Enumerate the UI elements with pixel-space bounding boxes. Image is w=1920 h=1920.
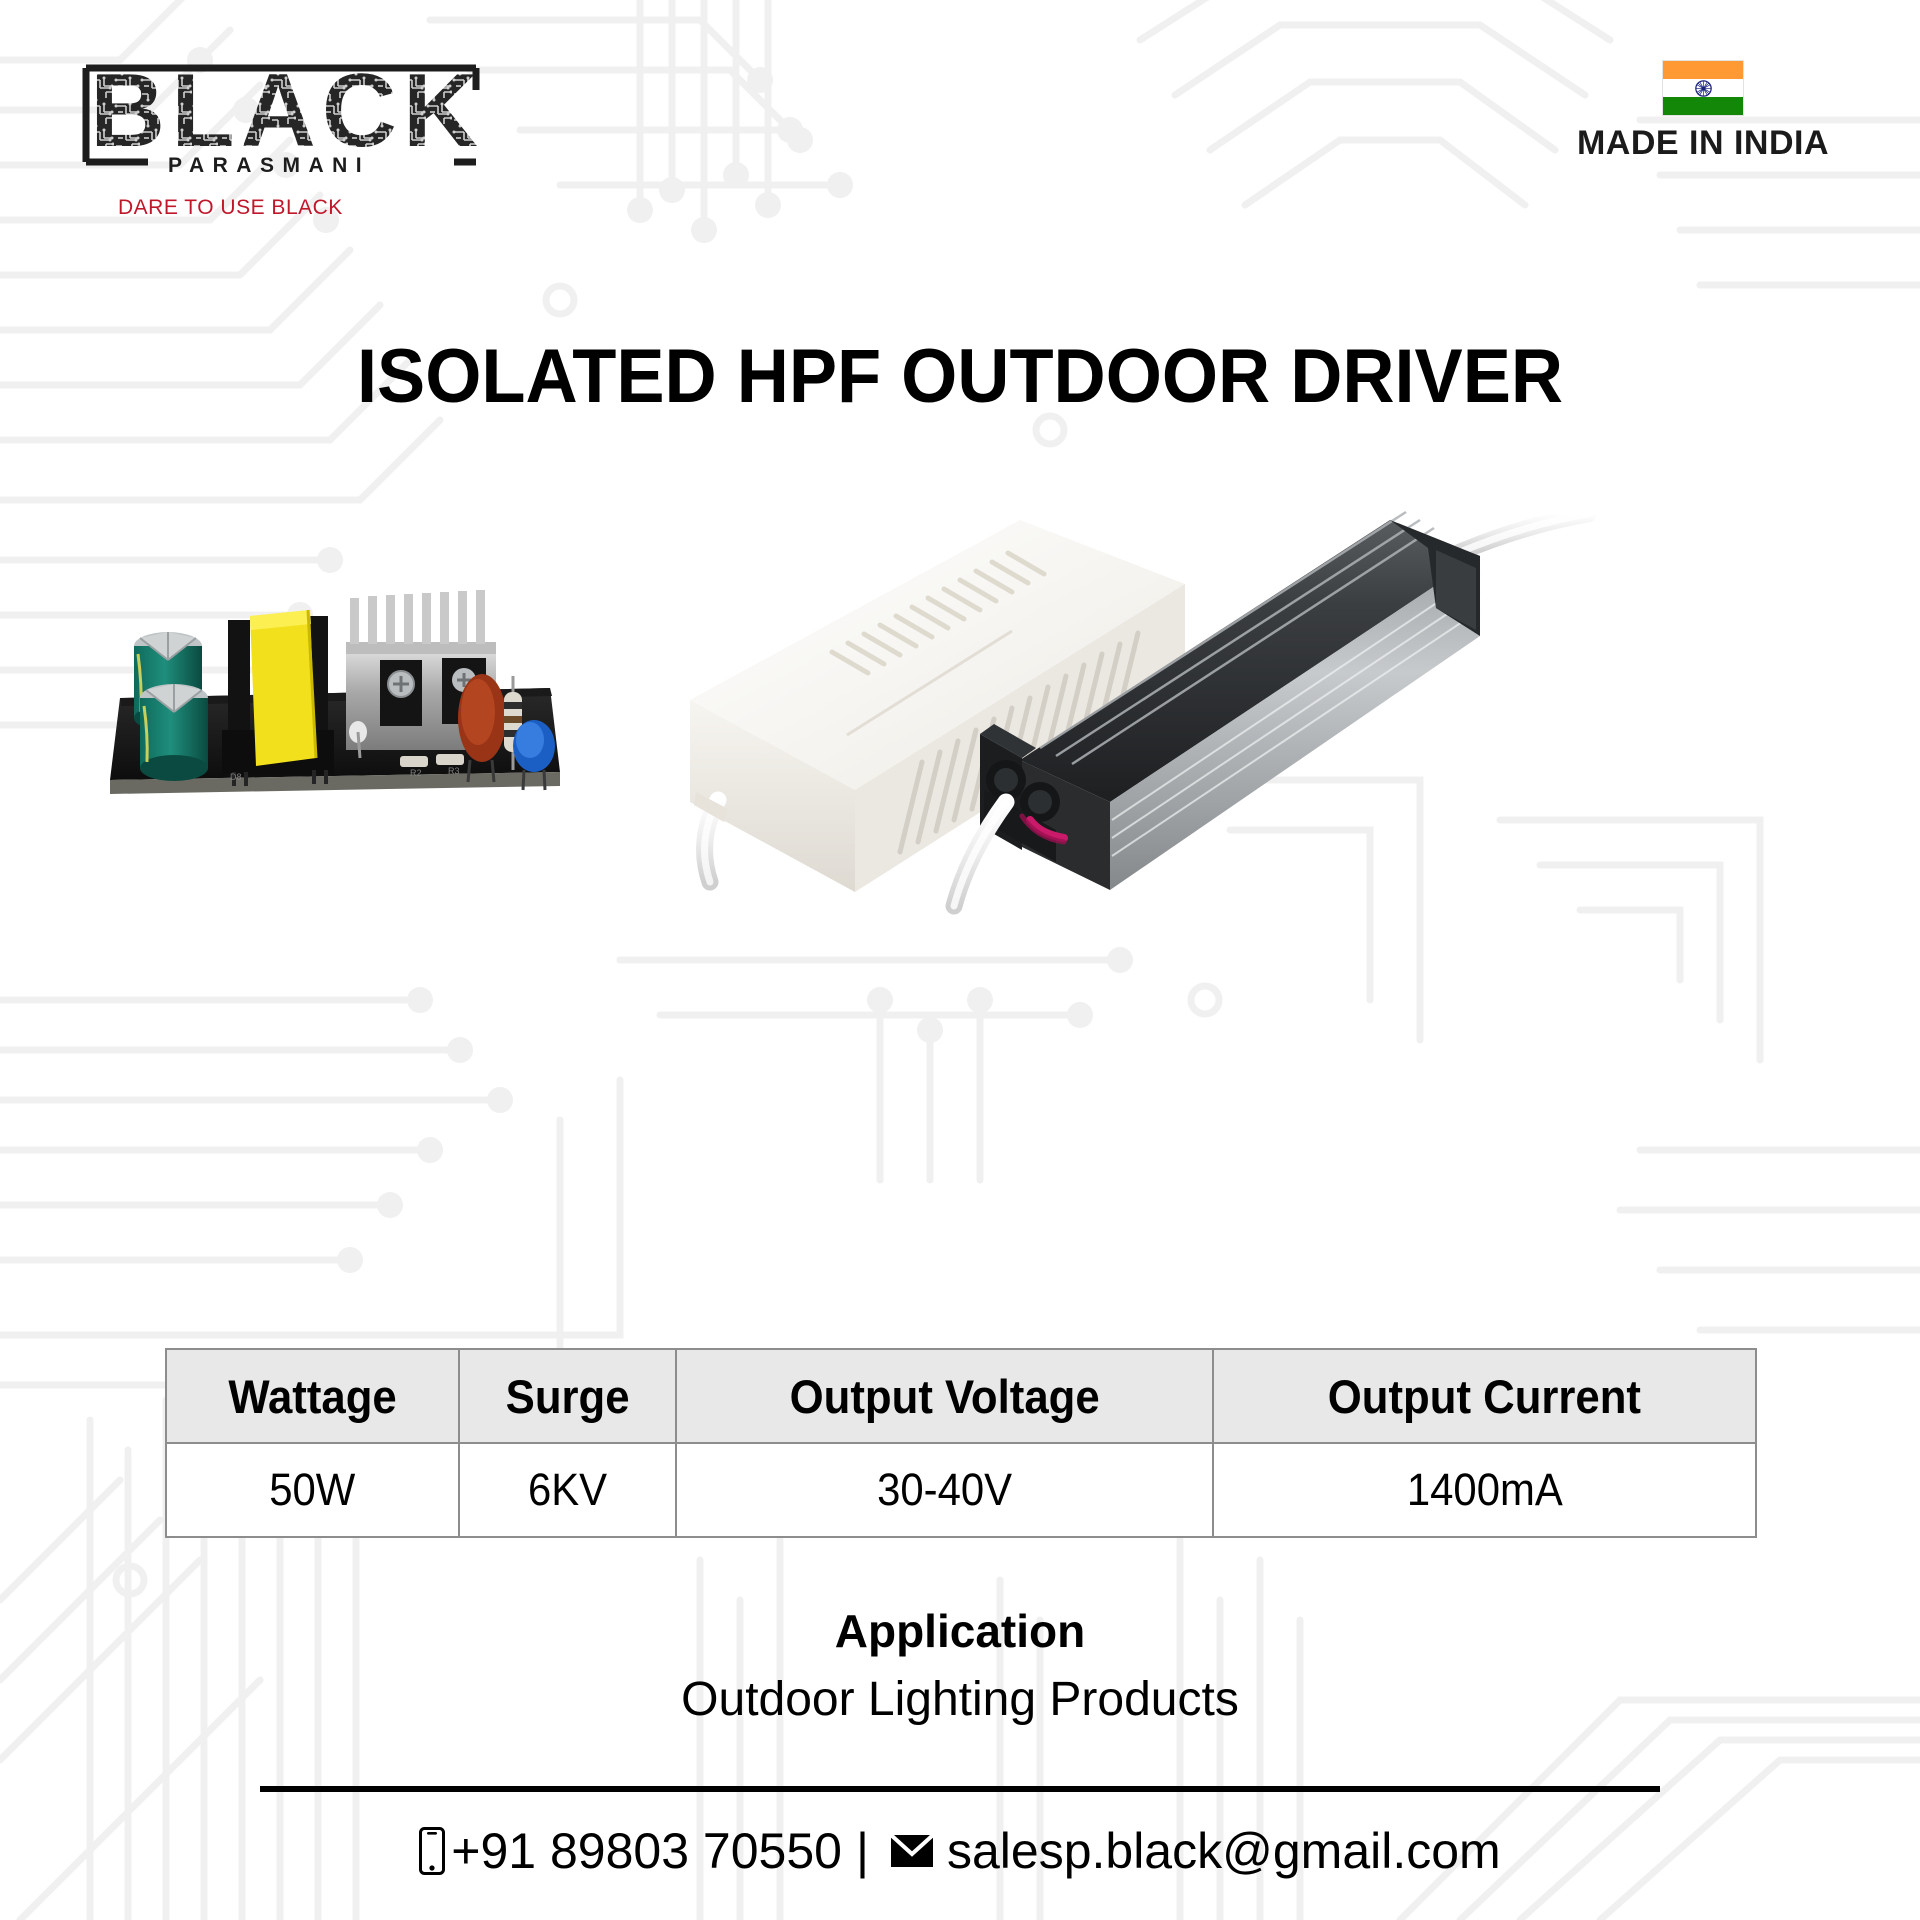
specifications-table: Wattage Surge Output Voltage Output Curr… (165, 1348, 1757, 1538)
column-header-output-voltage: Output Voltage (676, 1349, 1213, 1443)
page-title: ISOLATED HPF OUTDOOR DRIVER (48, 333, 1872, 420)
footer-contact-bar: +91 89803 70550 | salesp.black@gmail.com (0, 1822, 1920, 1880)
logo-mark: BLACK PARASMANI (62, 50, 480, 182)
cell-wattage: 50W (166, 1443, 459, 1537)
made-in-india-badge: MADE IN INDIA (1558, 60, 1848, 163)
footer-separator: | (842, 1822, 883, 1880)
application-value: Outdoor Lighting Products (0, 1672, 1920, 1727)
product-images: D8 R2 R3 (0, 480, 1920, 1000)
svg-text:D8: D8 (230, 772, 242, 782)
brand-tagline: DARE TO USE BLACK (118, 196, 343, 220)
column-header-surge: Surge (459, 1349, 676, 1443)
column-header-output-current: Output Current (1213, 1349, 1756, 1443)
footer-divider (260, 1786, 1660, 1792)
cell-output-current: 1400mA (1213, 1443, 1756, 1537)
table-header-row: Wattage Surge Output Voltage Output Curr… (166, 1349, 1756, 1443)
product-open-frame-pcb: D8 R2 R3 (110, 590, 560, 794)
svg-text:R3: R3 (448, 766, 460, 776)
made-in-india-label: MADE IN INDIA (1558, 124, 1848, 163)
cell-surge: 6KV (459, 1443, 676, 1537)
svg-text:PARASMANI: PARASMANI (168, 154, 370, 177)
india-flag-icon (1662, 60, 1744, 116)
envelope-icon (889, 1832, 935, 1870)
table-row: 50W 6KV 30-40V 1400mA (166, 1443, 1756, 1537)
mobile-phone-icon (419, 1827, 445, 1875)
footer-email-address[interactable]: salesp.black@gmail.com (947, 1822, 1501, 1880)
ashoka-chakra-icon (1695, 80, 1712, 97)
svg-text:R2: R2 (410, 768, 422, 778)
footer-phone-number[interactable]: +91 89803 70550 (451, 1822, 842, 1880)
application-heading: Application (0, 1604, 1920, 1658)
brand-logo: BLACK PARASMANI (62, 50, 482, 182)
column-header-wattage: Wattage (166, 1349, 459, 1443)
cell-output-voltage: 30-40V (676, 1443, 1213, 1537)
